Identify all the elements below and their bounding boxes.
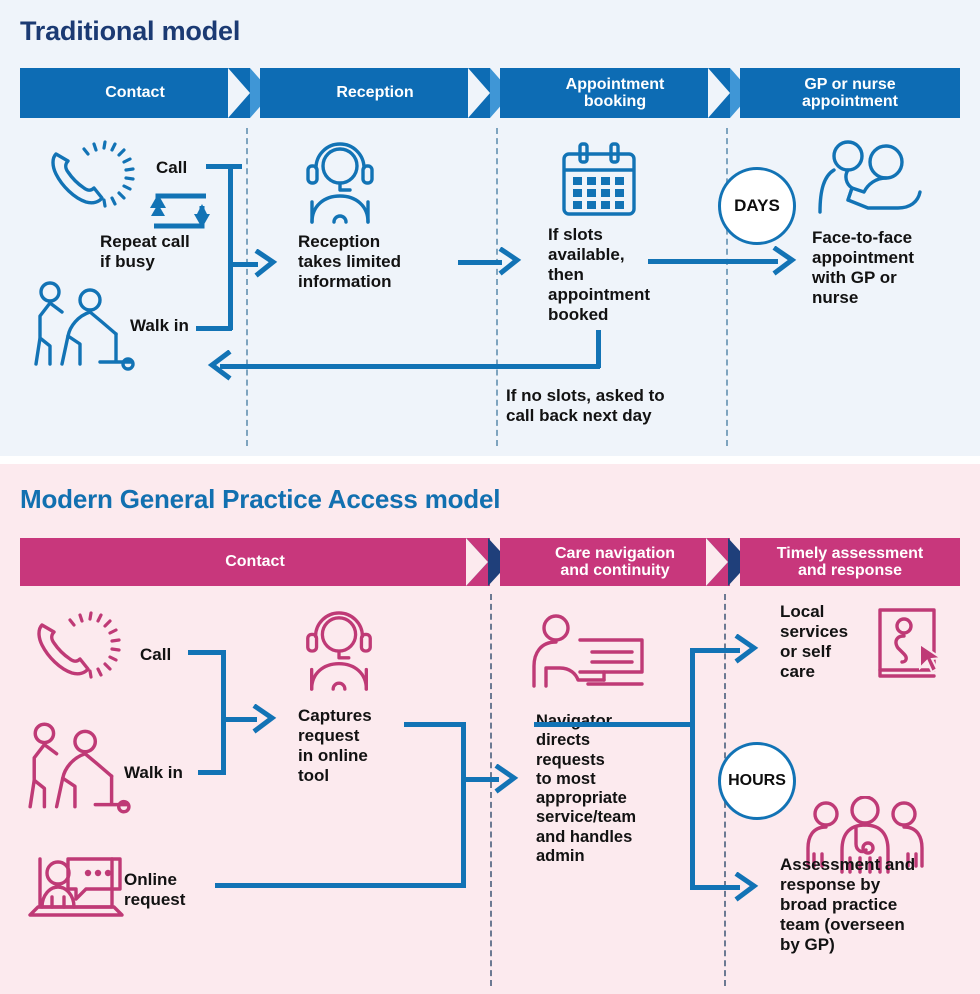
- connector-navigator-vertical: [690, 722, 695, 890]
- navigator-line-7: and handles: [536, 828, 636, 847]
- entry-label-walk-in-modern: Walk in: [124, 763, 183, 783]
- navigator-line-6: service/team: [536, 808, 636, 827]
- chevron-icon-1-mask: [228, 68, 250, 118]
- stage-label-line2: appointment: [802, 93, 898, 110]
- arrowhead-to-navigator-icon: [494, 764, 526, 796]
- phone-ringing-icon: [38, 138, 138, 218]
- laptop-video-consult-icon: [24, 845, 128, 927]
- arrowhead-to-appointment-icon: [772, 246, 804, 278]
- column-divider-1: [246, 128, 248, 446]
- no-slots-line-2: call back next day: [506, 406, 665, 426]
- chevron-icon-m2-mask: [706, 538, 728, 586]
- booking-line-2: available,: [548, 245, 650, 265]
- person-at-computer-icon: [524, 612, 650, 694]
- traditional-model-title: Traditional model: [20, 16, 240, 47]
- modern-model-title: Modern General Practice Access model: [20, 484, 500, 515]
- assessment-response-description: Assessment and response by broad practic…: [780, 855, 915, 954]
- booking-description: If slots available, then appointment boo…: [548, 225, 650, 324]
- stage-bar-care-navigation-modern[interactable]: Care navigation and continuity: [500, 538, 730, 586]
- connector-navigator-up: [690, 648, 695, 726]
- outcome-line-2: appointment: [812, 248, 914, 268]
- arrowhead-to-local-services-icon: [734, 634, 766, 666]
- loop-arrows-heads-icon: [140, 192, 220, 230]
- outcome-line-4: nurse: [812, 288, 914, 308]
- stage-label-line1: Appointment: [566, 76, 665, 93]
- infographic-canvas: Traditional model Contact Reception Appo…: [0, 0, 980, 994]
- captures-line-3: in online: [298, 746, 372, 766]
- local-services-line-1: Local: [780, 602, 848, 622]
- connector-captures-out: [404, 722, 466, 727]
- stage-label: Contact: [105, 84, 165, 101]
- stage-label-line1: Timely assessment: [777, 545, 923, 562]
- headset-person-icon: [298, 608, 380, 694]
- outcome-line-3: with GP or: [812, 268, 914, 288]
- assessment-line-5: by GP): [780, 935, 915, 955]
- stage-label-line1: Care navigation: [555, 545, 675, 562]
- connector-walkin: [196, 326, 232, 331]
- stage-bar-contact-traditional[interactable]: Contact: [20, 68, 250, 118]
- connector-vertical-merge-modern: [221, 650, 226, 775]
- local-services-line-4: care: [780, 662, 848, 682]
- navigator-line-4: to most: [536, 770, 636, 789]
- entry-label-repeat-call-traditional: Repeat call if busy: [100, 232, 190, 272]
- booking-line-4: appointment: [548, 285, 650, 305]
- booking-line-3: then: [548, 265, 650, 285]
- chevron-icon-m1-mask: [466, 538, 488, 586]
- booking-line-1: If slots: [548, 225, 650, 245]
- chevron-icon-2-mask: [468, 68, 490, 118]
- stage-bar-reception-traditional[interactable]: Reception: [260, 68, 490, 118]
- arrowhead-to-captures-icon: [252, 704, 284, 736]
- captures-line-2: request: [298, 726, 372, 746]
- online-line-2: request: [124, 890, 185, 910]
- entry-label-call-traditional: Call: [156, 158, 187, 178]
- captures-description: Captures request in online tool: [298, 706, 372, 786]
- reception-line-3: information: [298, 272, 401, 292]
- headset-person-icon: [298, 140, 382, 226]
- reception-description: Reception takes limited information: [298, 232, 401, 292]
- captures-line-1: Captures: [298, 706, 372, 726]
- assessment-line-2: response by: [780, 875, 915, 895]
- assessment-line-3: broad practice: [780, 895, 915, 915]
- booking-line-5: booked: [548, 305, 650, 325]
- stage-bar-contact-modern[interactable]: Contact: [20, 538, 490, 586]
- local-services-description: Local services or self care: [780, 602, 848, 682]
- assessment-line-4: team (overseen: [780, 915, 915, 935]
- no-slots-note: If no slots, asked to call back next day: [506, 386, 665, 426]
- connector-navigator-out: [534, 722, 694, 727]
- connector-online-request: [215, 883, 465, 888]
- phone-ringing-icon: [24, 608, 124, 690]
- online-line-1: Online: [124, 870, 185, 890]
- stage-label: Contact: [225, 553, 285, 570]
- stage-label-line2: and continuity: [560, 562, 669, 579]
- stage-label: Reception: [336, 84, 413, 101]
- arrowhead-to-assessment-icon: [734, 872, 766, 904]
- days-badge: DAYS: [718, 167, 796, 245]
- connector-reception-to-booking: [458, 260, 502, 265]
- local-services-line-3: or self: [780, 642, 848, 662]
- local-services-line-2: services: [780, 622, 848, 642]
- stage-label-line2: and response: [798, 562, 902, 579]
- two-people-walking-frame-icon: [28, 278, 138, 374]
- outcome-line-1: Face-to-face: [812, 228, 914, 248]
- navigator-line-2: directs: [536, 731, 636, 750]
- two-people-walking-frame-icon: [22, 718, 134, 818]
- reception-line-1: Reception: [298, 232, 401, 252]
- connector-no-slots-horizontal: [220, 364, 600, 369]
- connector-booking-to-appointment: [648, 259, 778, 264]
- navigator-line-3: requests: [536, 751, 636, 770]
- badge-label: DAYS: [734, 196, 780, 216]
- connector-vertical-merge-2: [461, 722, 466, 888]
- repeat-line-2: if busy: [100, 252, 190, 272]
- hours-badge: HOURS: [718, 742, 796, 820]
- stage-label-line2: booking: [584, 93, 646, 110]
- connector-call: [206, 164, 242, 169]
- captures-line-4: tool: [298, 766, 372, 786]
- entry-label-online-request-modern: Online request: [124, 870, 185, 910]
- reception-line-2: takes limited: [298, 252, 401, 272]
- column-divider-3: [726, 128, 728, 446]
- arrowhead-to-booking-icon: [498, 247, 528, 277]
- repeat-line-1: Repeat call: [100, 232, 190, 252]
- navigator-line-8: admin: [536, 847, 636, 866]
- badge-label: HOURS: [728, 772, 786, 790]
- navigator-line-5: appropriate: [536, 789, 636, 808]
- calendar-icon: [558, 142, 640, 220]
- arrowhead-to-reception-icon: [254, 249, 284, 279]
- connector-vertical-merge: [228, 164, 233, 330]
- connector-to-assessment: [690, 885, 740, 890]
- navigator-description: Navigator directs requests to most appro…: [536, 712, 636, 866]
- connector-no-slots-vertical: [596, 330, 601, 368]
- stage-label-line1: GP or nurse: [804, 76, 895, 93]
- assessment-line-1: Assessment and: [780, 855, 915, 875]
- column-divider-2: [496, 128, 498, 446]
- no-slots-line-1: If no slots, asked to: [506, 386, 665, 406]
- entry-label-call-modern: Call: [140, 645, 171, 665]
- chevron-icon-3-mask: [708, 68, 730, 118]
- self-care-booklet-icon: [872, 604, 948, 684]
- stage-bar-timely-assessment-modern[interactable]: Timely assessment and response: [740, 538, 960, 586]
- entry-label-walk-in-traditional: Walk in: [130, 316, 189, 336]
- arrowhead-no-slots-return-icon: [198, 350, 232, 382]
- column-divider-m1: [490, 594, 492, 986]
- stage-bar-gp-or-nurse-traditional[interactable]: GP or nurse appointment: [740, 68, 960, 118]
- clinician-examining-patient-icon: [812, 140, 924, 218]
- connector-walkin-modern: [198, 770, 226, 775]
- stage-bar-appointment-booking-traditional[interactable]: Appointment booking: [500, 68, 730, 118]
- connector-to-local-services: [690, 648, 740, 653]
- traditional-outcome-description: Face-to-face appointment with GP or nurs…: [812, 228, 914, 308]
